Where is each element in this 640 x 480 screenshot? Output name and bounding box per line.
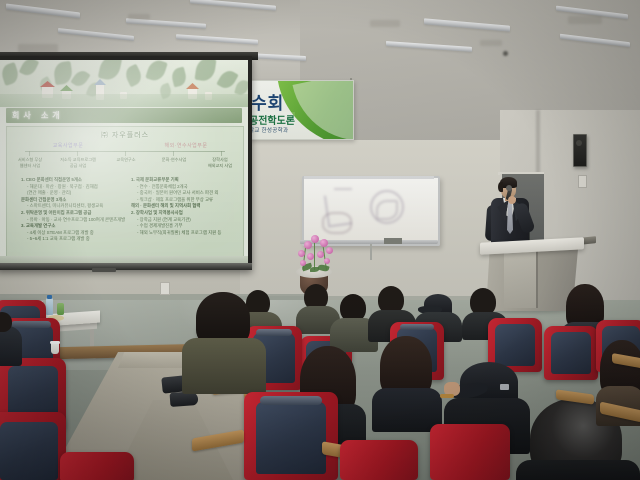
slide-org-box: 저소득 교육프로그램공급 사업 bbox=[57, 157, 99, 169]
water-bottle[interactable] bbox=[46, 298, 53, 315]
cap-logo bbox=[500, 384, 509, 390]
seat-top-rail bbox=[11, 321, 51, 328]
seat[interactable] bbox=[244, 392, 338, 480]
bottle-cap bbox=[47, 295, 52, 299]
slide-org-box: 교육연구소 bbox=[105, 157, 147, 163]
power-outlet[interactable] bbox=[578, 175, 587, 188]
slide-column-right: 1. 국제 문화교류부문 기획- 연수 · 전통문화체험 2개국- 중국어 · … bbox=[131, 177, 237, 236]
audience-member-shoulders bbox=[182, 338, 266, 394]
seat[interactable] bbox=[430, 424, 510, 480]
wall-speaker bbox=[573, 134, 587, 167]
audience-member-shoulders bbox=[516, 460, 640, 480]
whiteboard-marker-residue bbox=[334, 188, 352, 190]
presenter-hair bbox=[498, 182, 503, 192]
seat-top-rail bbox=[256, 329, 292, 336]
banner-headline: 수회 bbox=[251, 89, 284, 114]
projected-slide: 회사 소개 ㈜ 자우플러스 교육사업부문 해외·연수사업부문 서비스형 무상웹센… bbox=[0, 60, 248, 263]
slide-footer bbox=[0, 256, 248, 263]
slide-org-box: 문화·연수사업 bbox=[153, 157, 195, 163]
whiteboard-top-rail bbox=[304, 176, 434, 179]
ceiling-sensor bbox=[503, 51, 508, 56]
slide-org-name: ㈜ 자우플러스 bbox=[7, 130, 243, 140]
seat-cushion bbox=[0, 422, 58, 480]
podium-seam bbox=[536, 250, 538, 308]
presenter-tie bbox=[507, 200, 513, 234]
power-outlet[interactable] bbox=[160, 282, 170, 295]
slide-org-box: 서비스형 무상웹센터 사업 bbox=[9, 157, 51, 169]
slide-body: ㈜ 자우플러스 교육사업부문 해외·연수사업부문 서비스형 무상웹센터 사업 저… bbox=[6, 126, 244, 258]
screen-bottom-bar bbox=[0, 263, 252, 270]
speaker-cone bbox=[576, 140, 582, 146]
ceiling-stain bbox=[480, 40, 502, 46]
paper-cup-rim bbox=[50, 341, 60, 344]
whiteboard-marker-residue bbox=[376, 200, 398, 220]
microphone-capsule bbox=[506, 185, 512, 191]
orchid-plant bbox=[296, 234, 336, 274]
whiteboard-marker-residue bbox=[322, 212, 352, 234]
seat-backrest bbox=[60, 452, 134, 480]
ceiling-stain bbox=[370, 20, 400, 27]
whiteboard-support-leg bbox=[370, 244, 372, 260]
seat[interactable] bbox=[0, 412, 66, 480]
audience-member-shoulders bbox=[0, 326, 22, 366]
seat[interactable] bbox=[340, 440, 418, 480]
green-wall-banner: 수회 공전학도론 학교 한성공학과 bbox=[244, 80, 354, 140]
seat-cushion bbox=[256, 402, 326, 474]
screen-weight-bar bbox=[92, 268, 116, 272]
slide-title: 회사 소개 bbox=[12, 109, 132, 123]
seat-top-rail bbox=[260, 396, 322, 405]
banner-footnote: 학교 한성공학과 bbox=[249, 126, 288, 134]
green-drink-can[interactable] bbox=[57, 303, 64, 315]
ceiling-stain bbox=[128, 14, 150, 20]
seat-backrest bbox=[430, 424, 510, 480]
seat-cushion bbox=[551, 332, 591, 374]
presenter-hand bbox=[508, 196, 516, 204]
slide-header-image bbox=[0, 60, 248, 107]
banner-subhead: 공전학도론 bbox=[249, 112, 295, 127]
slide-category-left: 교육사업부문 bbox=[31, 142, 105, 149]
seat-top-rail bbox=[400, 324, 434, 330]
ceiling-stain bbox=[568, 16, 602, 24]
seat[interactable] bbox=[60, 452, 134, 480]
slide-org-box: 장학사업해외교지 사업 bbox=[199, 157, 241, 169]
audience-wristband bbox=[440, 394, 454, 398]
lecture-hall-photo: 수회 공전학도론 학교 한성공학과 bbox=[0, 0, 640, 480]
slide-column-left: 1. CEO 문화센터 직접운영 5개소- 해운대 · 마산 · 창원 · 북구… bbox=[21, 177, 127, 243]
slide-category-right: 해외·연수사업부문 bbox=[149, 142, 223, 149]
seat-cushion bbox=[495, 324, 535, 366]
whiteboard-eraser[interactable] bbox=[384, 238, 402, 244]
seat[interactable] bbox=[544, 326, 598, 380]
seat-backrest bbox=[340, 440, 418, 480]
podium-panel bbox=[504, 252, 536, 308]
